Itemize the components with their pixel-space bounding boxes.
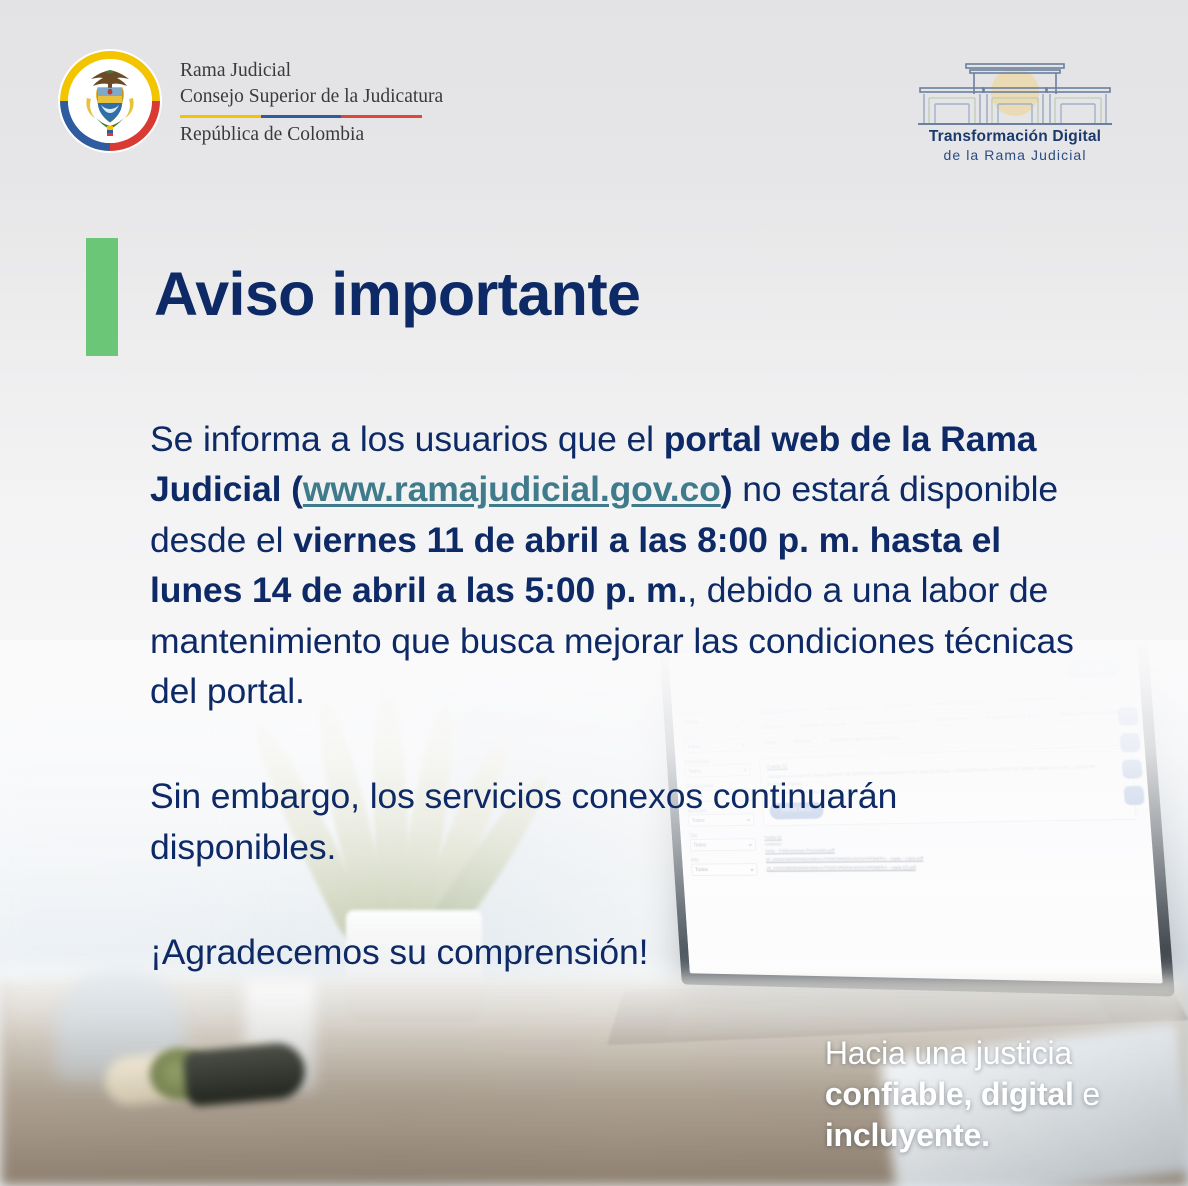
tagline-line-1: Hacia una justicia xyxy=(825,1033,1100,1074)
tricolor-yellow xyxy=(180,115,261,118)
poster-content: Rama Judicial Consejo Superior de la Jud… xyxy=(0,0,1188,1186)
portal-url-link[interactable]: www.ramajudicial.gov.co xyxy=(303,469,721,509)
notice-paragraph-1: Se informa a los usuarios que el portal … xyxy=(150,414,1090,716)
brand-line-rama-judicial: Rama Judicial xyxy=(180,58,443,84)
notice-paragraph-3: ¡Agradecemos su comprensión! xyxy=(150,927,1090,977)
tagline-line-3: incluyente. xyxy=(825,1115,1100,1156)
paragraph-spacer xyxy=(150,872,1090,927)
poster-canvas: Publicaciones Procesales BUSCAR Despacho… xyxy=(0,0,1188,1186)
tagline-line-3-bold: incluyente. xyxy=(825,1117,990,1153)
notice-body: Se informa a los usuarios que el portal … xyxy=(150,414,1090,978)
paragraph-spacer xyxy=(150,716,1090,771)
p1-part-a: Se informa a los usuarios que el xyxy=(150,419,664,459)
green-accent-bar xyxy=(86,238,118,356)
brand-line-republica: República de Colombia xyxy=(180,124,443,146)
tricolor-blue xyxy=(261,115,342,118)
tagline-line-2: confiable, digital e xyxy=(825,1074,1100,1115)
transformacion-digital-brand: Transformación Digital de la Rama Judici… xyxy=(904,48,1126,163)
td-line-transformacion: Transformación Digital xyxy=(904,128,1126,146)
td-line-rama-judicial: de la Rama Judicial xyxy=(904,147,1126,163)
tricolor-divider xyxy=(180,115,422,118)
brand-line-consejo: Consejo Superior de la Judicatura xyxy=(180,84,443,110)
tagline: Hacia una justicia confiable, digital e … xyxy=(825,1033,1100,1156)
tagline-line-2-rest: e xyxy=(1074,1076,1100,1112)
colombia-coat-of-arms-seal-icon xyxy=(57,48,163,154)
title-block: Aviso importante xyxy=(86,238,640,356)
page-title: Aviso importante xyxy=(154,238,640,356)
tagline-line-2-bold: confiable, digital xyxy=(825,1076,1074,1112)
header: Rama Judicial Consejo Superior de la Jud… xyxy=(0,0,1188,180)
rama-judicial-brand: Rama Judicial Consejo Superior de la Jud… xyxy=(57,48,443,154)
notice-paragraph-2: Sin embargo, los servicios conexos conti… xyxy=(150,771,1090,872)
tricolor-red xyxy=(341,115,422,118)
courthouse-building-icon xyxy=(904,48,1126,126)
brand-text: Rama Judicial Consejo Superior de la Jud… xyxy=(180,56,443,145)
p1-part-c: ) xyxy=(721,469,733,509)
